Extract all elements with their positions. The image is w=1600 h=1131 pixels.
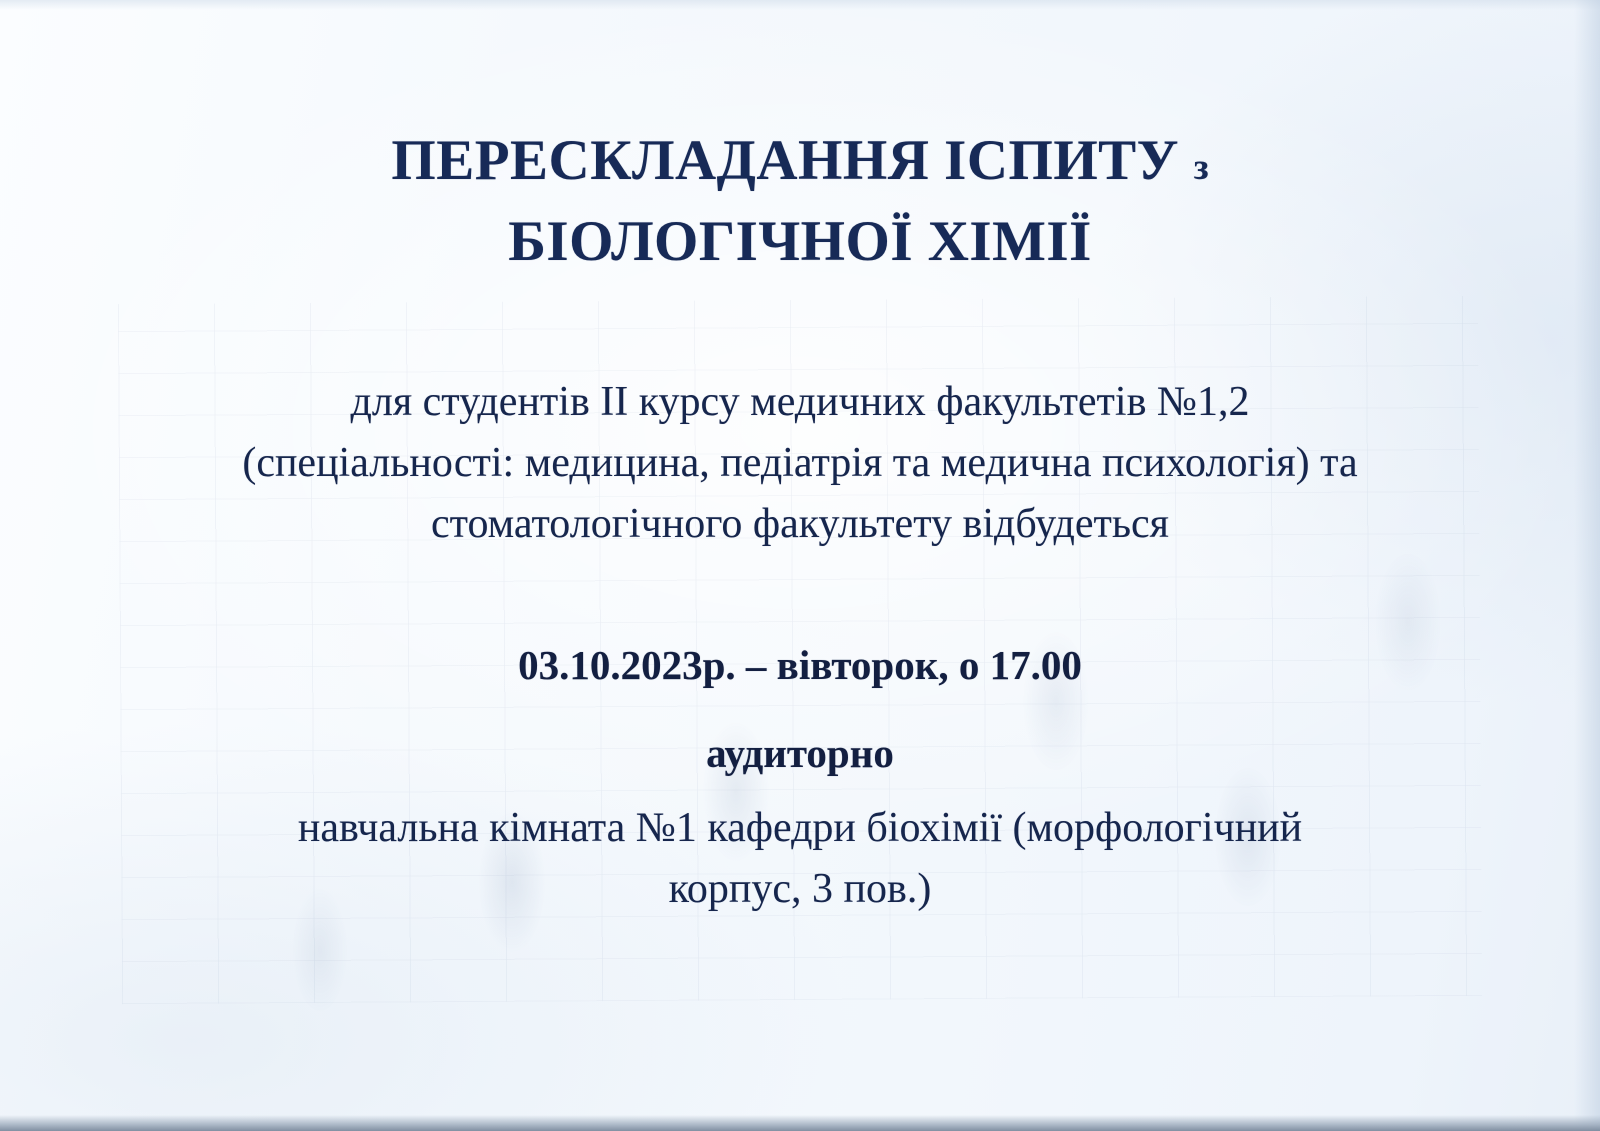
venue-paragraph: навчальна кімната №1 кафедри біохімії (м… — [0, 798, 1600, 920]
announcement-page: ПЕРЕСКЛАДАННЯ ІСПИТУ з БІОЛОГІЧНОЇ ХІМІЇ… — [0, 0, 1600, 1131]
audience-line-3: стоматологічного факультету відбудеться — [0, 494, 1600, 555]
title-line-2: БІОЛОГІЧНОЇ ХІМІЇ — [0, 205, 1600, 279]
datetime-paragraph: 03.10.2023р. – вівторок, о 17.00 аудитор… — [0, 640, 1600, 778]
audience-line-1: для студентів ІІ курсу медичних факульте… — [0, 372, 1600, 433]
exam-datetime-line: 03.10.2023р. – вівторок, о 17.00 — [0, 640, 1600, 690]
title-line-1-main: ПЕРЕСКЛАДАННЯ ІСПИТУ — [391, 129, 1179, 192]
venue-line-1: навчальна кімната №1 кафедри біохімії (м… — [0, 798, 1600, 859]
audience-line-2: (спеціальності: медицина, педіатрія та м… — [0, 433, 1600, 494]
document-content: ПЕРЕСКЛАДАННЯ ІСПИТУ з БІОЛОГІЧНОЇ ХІМІЇ… — [0, 0, 1600, 1131]
exam-mode-line: аудиторно — [0, 728, 1600, 778]
audience-paragraph: для студентів ІІ курсу медичних факульте… — [0, 372, 1600, 555]
document-title: ПЕРЕСКЛАДАННЯ ІСПИТУ з БІОЛОГІЧНОЇ ХІМІЇ — [0, 124, 1600, 279]
venue-line-2: корпус, 3 пов.) — [0, 859, 1600, 920]
title-line-1: ПЕРЕСКЛАДАННЯ ІСПИТУ з — [0, 124, 1600, 205]
title-line-1-suffix: з — [1194, 147, 1209, 188]
